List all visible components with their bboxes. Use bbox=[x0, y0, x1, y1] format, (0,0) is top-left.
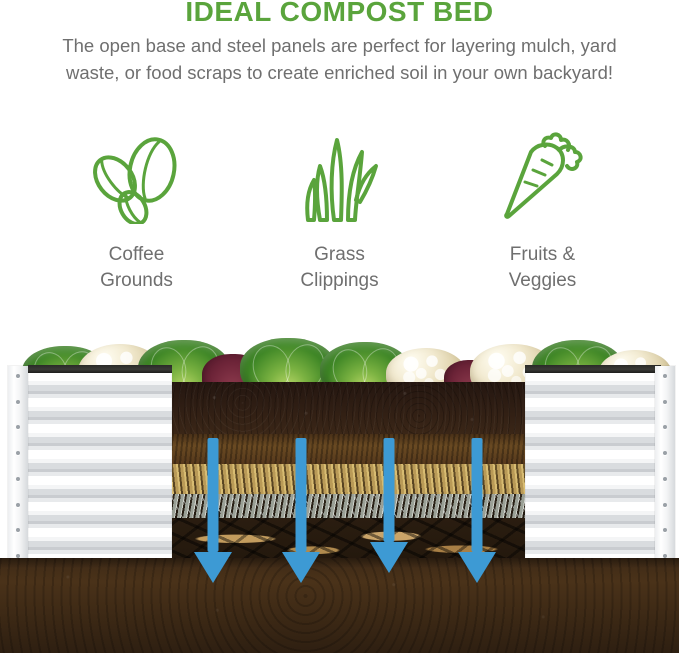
bed-steel-panel-right bbox=[525, 372, 661, 561]
promo-image: IDEAL COMPOST BED The open base and stee… bbox=[0, 0, 679, 653]
page-subtitle: The open base and steel panels are perfe… bbox=[40, 32, 640, 86]
bed-corner-post-left bbox=[8, 366, 28, 566]
feature-coffee-grounds: Coffee Grounds bbox=[35, 128, 238, 294]
garden-bed-photo bbox=[0, 330, 679, 653]
feature-label: Fruits & Veggies bbox=[441, 242, 644, 294]
water-flow-arrow bbox=[370, 438, 408, 573]
page-title: IDEAL COMPOST BED bbox=[0, 0, 679, 28]
feature-grass-clippings: Grass Clippings bbox=[238, 128, 441, 294]
feature-label-line2: Grounds bbox=[100, 270, 173, 291]
post-bolts bbox=[663, 374, 667, 558]
panel-top-rail bbox=[525, 365, 661, 373]
water-flow-arrow bbox=[282, 438, 320, 583]
feature-label-line1: Coffee bbox=[109, 244, 165, 265]
water-flow-arrow bbox=[194, 438, 232, 583]
grass-blades-icon bbox=[238, 128, 441, 228]
water-flow-arrow bbox=[458, 438, 496, 583]
post-bolts bbox=[16, 374, 20, 558]
feature-list: Coffee Grounds Grass Clippings bbox=[0, 128, 679, 303]
feature-label-line2: Veggies bbox=[509, 270, 577, 291]
feature-label: Coffee Grounds bbox=[35, 242, 238, 294]
panel-top-rail bbox=[28, 365, 172, 373]
layer-compost-soil bbox=[172, 382, 525, 434]
feature-label: Grass Clippings bbox=[238, 242, 441, 294]
coffee-beans-icon bbox=[35, 128, 238, 228]
feature-fruits-veggies: Fruits & Veggies bbox=[441, 128, 644, 294]
bed-corner-post-right bbox=[655, 366, 675, 566]
carrot-icon bbox=[441, 128, 644, 228]
feature-label-line1: Fruits & bbox=[510, 244, 575, 265]
feature-label-line1: Grass bbox=[314, 244, 365, 265]
bed-steel-panel-left bbox=[28, 372, 172, 561]
feature-label-line2: Clippings bbox=[300, 270, 378, 291]
ground-soil bbox=[0, 558, 679, 653]
